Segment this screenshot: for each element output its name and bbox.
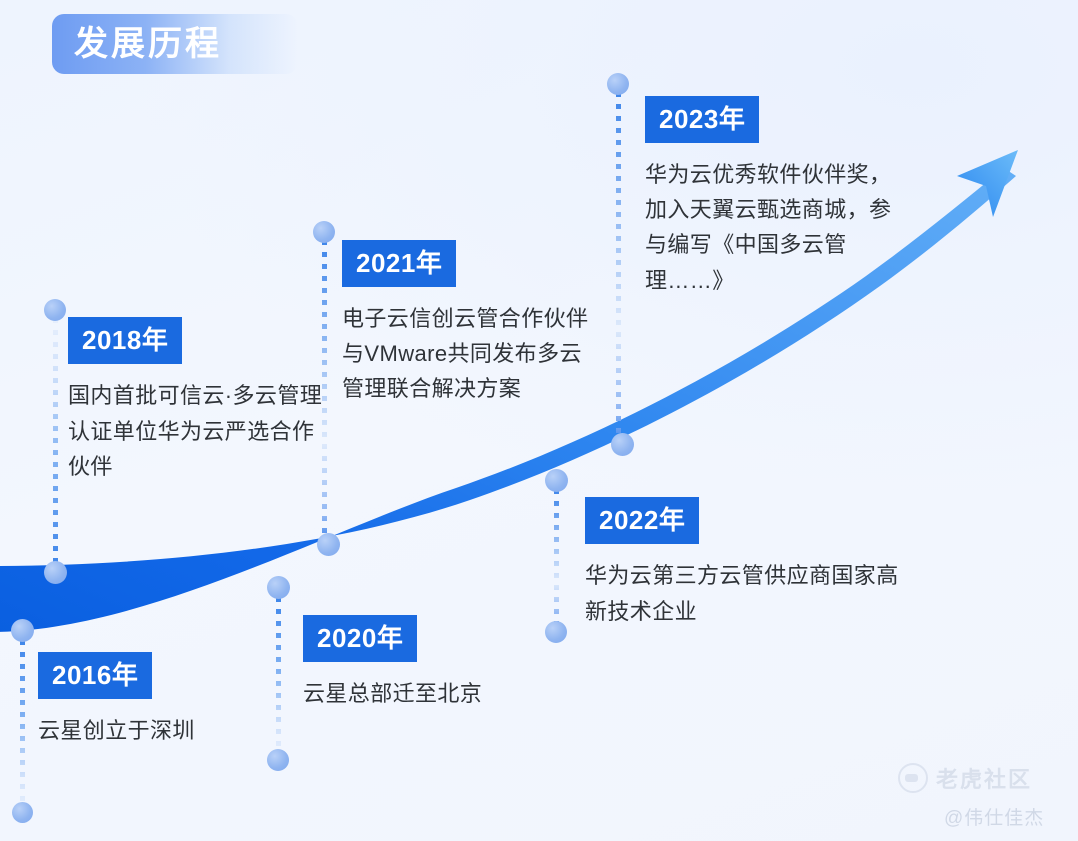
year-badge-2021: 2021年 xyxy=(342,240,456,287)
connector-2023 xyxy=(616,92,621,440)
milestone-description-2018: 国内首批可信云·多云管理认证单位华为云严选合作伙伴 xyxy=(68,378,336,485)
page-title: 发展历程 xyxy=(52,27,222,61)
year-badge-2018: 2018年 xyxy=(68,317,182,364)
node-dot-2021-ribbon xyxy=(317,533,340,556)
node-dot-2020-ribbon xyxy=(267,576,290,599)
connector-line xyxy=(53,318,58,568)
milestone-2023: 2023年 华为云优秀软件伙伴奖，加入天翼云甄选商城，参与编写《中国多云管理……… xyxy=(645,96,913,298)
connector-2018 xyxy=(53,318,58,568)
node-dot-2023-ribbon xyxy=(611,433,634,456)
node-dot-2020-end xyxy=(267,749,289,771)
milestone-2020: 2020年 云星总部迁至北京 xyxy=(303,615,583,712)
milestone-description-2016: 云星创立于深圳 xyxy=(38,713,288,749)
connector-line xyxy=(20,640,25,810)
page-title-badge: 发展历程 xyxy=(52,14,298,74)
connector-2016 xyxy=(20,640,25,810)
watermark-community-text: 老虎社区 xyxy=(936,762,1032,794)
milestone-2016: 2016年 云星创立于深圳 xyxy=(38,652,288,749)
year-badge-2022: 2022年 xyxy=(585,497,699,544)
node-dot-2023-end xyxy=(607,73,629,95)
node-dot-2016-ribbon xyxy=(11,619,34,642)
milestone-2018: 2018年 国内首批可信云·多云管理认证单位华为云严选合作伙伴 xyxy=(68,317,336,485)
milestone-2021: 2021年 电子云信创云管合作伙伴与VMware共同发布多云管理联合解决方案 xyxy=(342,240,604,407)
milestone-description-2023: 华为云优秀软件伙伴奖，加入天翼云甄选商城，参与编写《中国多云管理……》 xyxy=(645,157,913,298)
milestone-description-2021: 电子云信创云管合作伙伴与VMware共同发布多云管理联合解决方案 xyxy=(342,301,604,407)
milestone-description-2020: 云星总部迁至北京 xyxy=(303,676,583,712)
connector-2022 xyxy=(554,489,559,627)
watermark-community: 老虎社区 xyxy=(898,762,1032,794)
year-badge-2020: 2020年 xyxy=(303,615,417,662)
infographic-canvas: 发展历程 2016年 云星创立于深圳 2018年 国内首批可信云 xyxy=(0,0,1078,841)
year-badge-2016: 2016年 xyxy=(38,652,152,699)
tiger-logo-icon xyxy=(898,763,928,793)
connector-line xyxy=(616,92,621,440)
node-dot-2016-end xyxy=(12,802,33,823)
connector-line xyxy=(554,489,559,627)
node-dot-2022-ribbon xyxy=(545,469,568,492)
node-dot-2021-end xyxy=(313,221,335,243)
node-dot-2018-end xyxy=(44,299,66,321)
node-dot-2018-ribbon xyxy=(44,561,67,584)
milestone-description-2022: 华为云第三方云管供应商国家高新技术企业 xyxy=(585,558,905,629)
watermark-handle: @伟仕佳杰 xyxy=(944,803,1044,830)
milestone-2022: 2022年 华为云第三方云管供应商国家高新技术企业 xyxy=(585,497,905,629)
year-badge-2023: 2023年 xyxy=(645,96,759,143)
